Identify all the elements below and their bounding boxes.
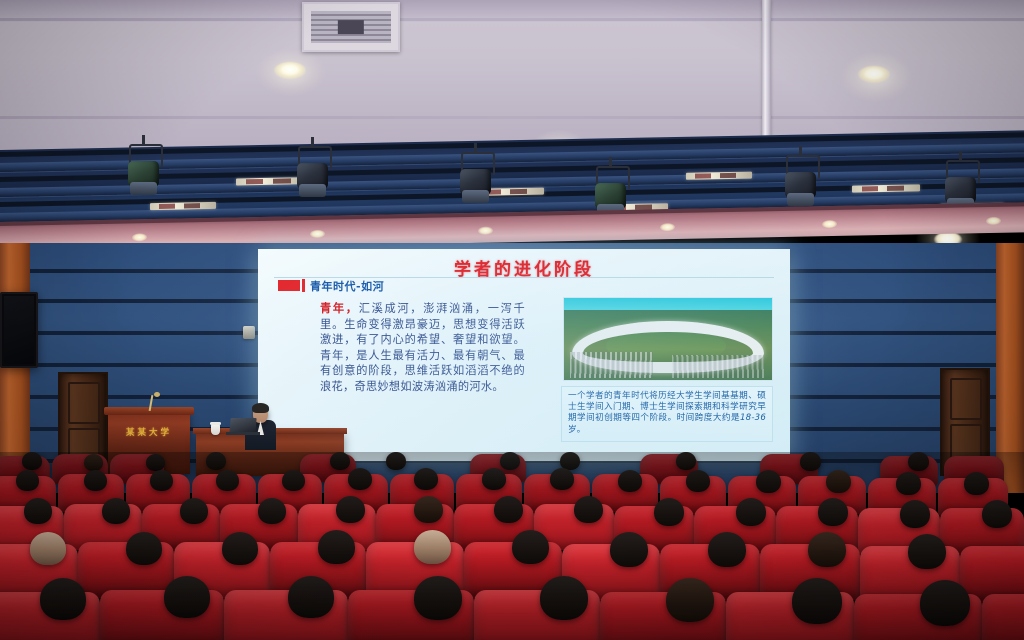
photo-town-left [570,352,653,378]
audience-head [282,470,305,491]
laptop-base [226,432,260,435]
audience-head [574,496,603,523]
audience-head [40,578,86,620]
audience-head [336,496,365,523]
truss-tile [852,184,920,192]
light-lens [299,184,326,197]
audience-head [896,472,921,495]
audience-head [146,454,165,471]
audience-head [818,498,848,526]
ceiling-seam [0,18,1024,21]
audience-head [826,470,851,493]
audience-head [414,468,438,490]
cup-lid [210,422,221,425]
audience-head [126,532,162,565]
audience-head [414,576,462,620]
audience-head [610,532,648,567]
audience-head [900,500,930,528]
audience-head [84,470,107,491]
audience-head [216,470,239,491]
light-lens [787,193,814,206]
audience-head [982,500,1012,528]
audience-head [386,452,406,470]
audience-head [22,452,42,470]
laptop [228,418,258,435]
band-downlight [310,230,325,238]
caption-tail: 岁。 [568,425,586,435]
tv-screen [4,296,34,364]
ceiling-downlight [858,66,890,83]
audience-head [206,452,226,470]
audience-head [792,578,842,624]
laptop-lid [229,418,256,433]
audience-head [482,468,506,490]
river-photo [563,297,773,381]
slide-caption: 一个学者的青年时代将历经大学生学间基基期、硕士生学间入门期、博士生学间探索期和科… [561,386,773,442]
photo-town-right [672,355,764,378]
audience-head [150,470,173,491]
microphone-head-icon [154,392,160,397]
audience-head [164,576,210,618]
audience-head [16,470,39,491]
audience-head [288,576,334,618]
audience-head [736,498,766,526]
tea-cup [211,424,220,435]
audience-head [708,532,746,567]
lectern-emblem-text: 某某大学 [115,426,183,438]
audience-head [414,496,443,523]
audience-head [24,498,52,524]
audience-head [676,452,696,470]
seat [982,594,1024,640]
audience-head [654,498,684,526]
audience-head [414,530,451,564]
audience-head [330,452,350,470]
audience-head [30,532,66,565]
slide-bullet-bar-icon [302,279,305,292]
audience-head [494,496,523,523]
audience-head [318,530,355,564]
audience-head [756,470,781,493]
audience-head [102,498,130,524]
audience-head [908,452,929,471]
wall-tv-monitor [0,292,38,368]
audience-area [0,452,1024,640]
band-downlight [660,223,675,231]
audience-head [84,454,103,471]
speaker-hair [252,403,269,413]
hvac-vent-icon [302,2,400,52]
auditorium-photo: 学者的进化阶段 青年时代-如河 青年，汇溪成河，澎湃汹涌，一泻千里。生命变得激昂… [0,0,1024,640]
audience-head [618,470,642,492]
audience-head [550,468,574,490]
audience-head [540,576,588,620]
audience-head [512,530,549,564]
audience-head [180,498,208,524]
audience-head [964,472,989,495]
slide-body-highlight: 青年， [320,302,359,315]
caption-text: 一个学者的青年时代将历经大学生学间基基期、硕士生学间入门期、博士生学间探索期和科… [568,391,766,423]
wall-speaker [243,326,255,339]
audience-head [800,452,821,471]
light-lens [462,190,489,203]
truss-tile [686,172,752,180]
audience-head [222,532,258,565]
truss-tile [150,202,216,210]
caption-age-range: 18-36 [740,413,766,423]
audience-head [348,468,372,490]
audience-head [920,580,970,626]
door-panel [950,378,982,420]
slide-subtitle: 青年时代-如河 [310,278,384,294]
audience-head [908,534,946,569]
band-downlight [478,227,493,235]
audience-head [258,498,286,524]
audience-head [808,532,846,567]
light-lens [130,182,157,195]
ceiling-downlight [274,62,306,79]
audience-head [666,578,714,622]
audience-head [686,470,710,492]
ceiling-seam [0,116,1024,119]
audience-head [500,452,520,470]
slide-body-text: 汇溪成河，澎湃汹涌，一泻千里。生命变得激昂豪迈，思想变得活跃激进，有了内心的希望… [320,302,525,393]
band-downlight [986,217,1001,225]
vent-core [338,20,364,34]
band-downlight [132,233,147,241]
band-downlight [822,220,837,228]
slide-body: 青年，汇溪成河，澎湃汹涌，一泻千里。生命变得激昂豪迈，思想变得活跃激进，有了内心… [320,301,525,395]
slide-bullet-square-icon [278,280,300,291]
door-panel [68,382,100,424]
